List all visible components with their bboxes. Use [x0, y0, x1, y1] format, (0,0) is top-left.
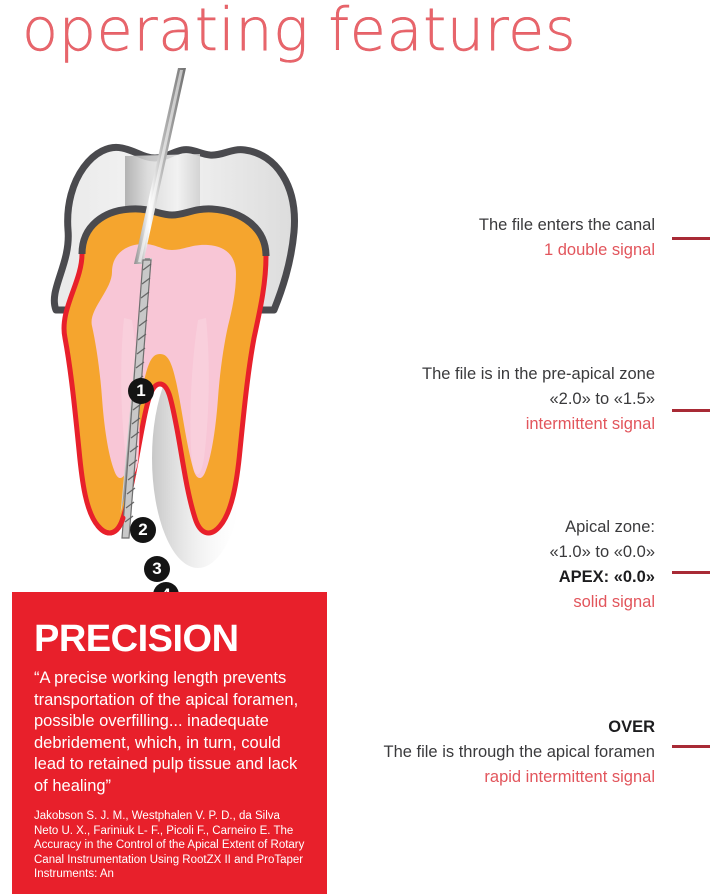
connector-line-3: [672, 571, 710, 574]
callout-apical-zone: Apical zone: «1.0» to «0.0» APEX: «0.0» …: [549, 515, 655, 615]
precision-panel: PRECISION “A precise working length prev…: [12, 592, 327, 894]
callout-file-enters-canal: The file enters the canal 1 double signa…: [479, 213, 655, 263]
callout-4-line-2: The file is through the apical foramen: [384, 740, 656, 765]
callout-3-apex: APEX: «0.0»: [549, 565, 655, 590]
callout-3-line-1: Apical zone:: [549, 515, 655, 540]
callout-2-line-2: «2.0» to «1.5»: [422, 387, 655, 412]
connector-line-4: [672, 745, 710, 748]
callout-2-line-1: The file is in the pre-apical zone: [422, 362, 655, 387]
callout-1-line-1: The file enters the canal: [479, 213, 655, 238]
callout-3-signal: solid signal: [549, 590, 655, 615]
callout-3-line-2: «1.0» to «0.0»: [549, 540, 655, 565]
tooth-illustration: 1 2 3 4: [20, 58, 340, 578]
connector-line-2: [672, 409, 710, 412]
page-title: operating features: [22, 0, 576, 66]
marker-2: 2: [130, 517, 156, 543]
precision-quote: “A precise working length prevents trans…: [34, 668, 305, 797]
precision-heading: PRECISION: [34, 618, 305, 660]
marker-1: 1: [128, 378, 154, 404]
precision-citation: Jakobson S. J. M., Westphalen V. P. D., …: [34, 809, 305, 882]
callout-2-signal: intermittent signal: [422, 412, 655, 437]
callout-pre-apical-zone: The file is in the pre-apical zone «2.0»…: [422, 362, 655, 437]
callout-over-apical-foramen: OVER The file is through the apical fora…: [384, 715, 656, 790]
callout-4-over: OVER: [384, 715, 656, 740]
operating-features-page: operating features: [0, 0, 710, 894]
callout-1-signal: 1 double signal: [479, 238, 655, 263]
connector-line-1: [672, 237, 710, 240]
callout-4-signal: rapid intermittent signal: [384, 765, 656, 790]
marker-3: 3: [144, 556, 170, 582]
